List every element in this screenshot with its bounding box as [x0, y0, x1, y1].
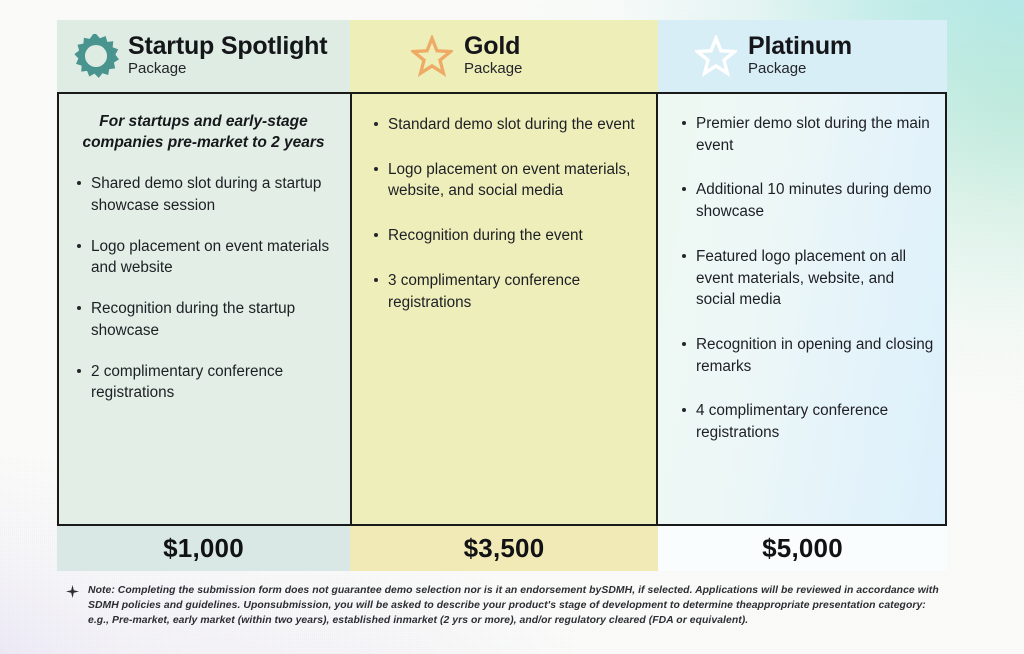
footnote-text: Note: Completing the submission form doe…: [88, 583, 946, 629]
star-outline-icon: [688, 35, 744, 77]
pricing-table-body-row: For startups and early-stage companies p…: [57, 92, 947, 526]
footnote: Note: Completing the submission form doe…: [66, 583, 946, 629]
four-point-star-icon: [66, 583, 88, 603]
list-item: Recognition during the startup showcase: [73, 298, 334, 341]
list-item: Logo placement on event materials, websi…: [370, 159, 642, 202]
list-item: Featured logo placement on all event mat…: [678, 246, 935, 311]
price-cell-platinum: $5,000: [658, 526, 947, 571]
package-title: Gold: [464, 33, 522, 59]
list-item: Recognition in opening and closing remar…: [678, 334, 935, 377]
list-item: Standard demo slot during the event: [370, 114, 642, 136]
price-value: $5,000: [762, 533, 843, 564]
package-subtitle: Package: [128, 60, 327, 79]
body-cell-startup-spotlight: For startups and early-stage companies p…: [59, 94, 350, 524]
pricing-table-price-row: $1,000 $3,500 $5,000: [57, 526, 947, 571]
list-item: Logo placement on event materials and we…: [73, 236, 334, 279]
list-item: 4 complimentary conference registrations: [678, 400, 935, 443]
price-cell-gold: $3,500: [350, 526, 658, 571]
header-cell-platinum: Platinum Package: [658, 20, 947, 92]
body-cell-gold: Standard demo slot during the event Logo…: [350, 94, 658, 524]
list-item: Additional 10 minutes during demo showca…: [678, 179, 935, 222]
header-cell-gold: Gold Package: [350, 20, 658, 92]
starburst-icon: [68, 33, 124, 79]
header-text-startup-spotlight: Startup Spotlight Package: [124, 33, 327, 79]
header-cell-startup-spotlight: Startup Spotlight Package: [57, 20, 350, 92]
list-item: 2 complimentary conference registrations: [73, 361, 334, 404]
list-item: Premier demo slot during the main event: [678, 113, 935, 156]
package-subtitle: Package: [464, 60, 522, 79]
header-text-platinum: Platinum Package: [744, 33, 852, 79]
star-outline-icon: [404, 35, 460, 77]
feature-list-startup-spotlight: Shared demo slot during a startup showca…: [73, 173, 334, 404]
package-title: Startup Spotlight: [128, 33, 327, 59]
feature-list-gold: Standard demo slot during the event Logo…: [370, 114, 642, 313]
package-intro: For startups and early-stage companies p…: [73, 108, 334, 153]
body-cell-platinum: Premier demo slot during the main event …: [658, 94, 945, 524]
price-value: $3,500: [464, 533, 545, 564]
list-item: Shared demo slot during a startup showca…: [73, 173, 334, 216]
package-subtitle: Package: [748, 60, 852, 79]
feature-list-platinum: Premier demo slot during the main event …: [678, 113, 935, 444]
price-value: $1,000: [163, 533, 244, 564]
package-title: Platinum: [748, 33, 852, 59]
price-cell-startup-spotlight: $1,000: [57, 526, 350, 571]
list-item: 3 complimentary conference registrations: [370, 270, 642, 313]
pricing-table: Startup Spotlight Package Gold Package: [57, 20, 947, 571]
pricing-table-header-row: Startup Spotlight Package Gold Package: [57, 20, 947, 92]
header-text-gold: Gold Package: [460, 33, 522, 79]
list-item: Recognition during the event: [370, 225, 642, 247]
